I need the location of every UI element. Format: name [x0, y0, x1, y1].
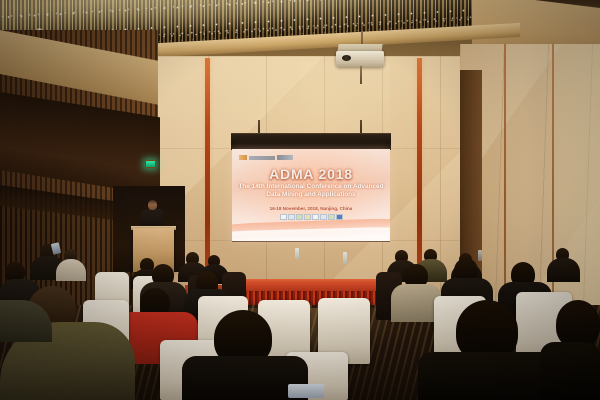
slide-date-location: 16-18 November, 2018, Nanjing, China	[236, 206, 386, 211]
sponsor-wordmark-logo-icon	[249, 156, 275, 160]
left-wall-dark-band	[0, 92, 160, 195]
sponsor-badge	[288, 214, 295, 220]
water-bottle	[343, 252, 347, 264]
projector-lens	[342, 55, 351, 61]
slide-logo-row	[239, 155, 293, 160]
attendee-shoulders	[418, 352, 560, 400]
slide-title: ADMA 2018	[232, 166, 390, 182]
exit-sign-icon	[145, 160, 156, 168]
adma-logo-icon	[277, 155, 293, 160]
wall-trim-left	[205, 58, 210, 288]
sponsor-badge	[312, 214, 319, 220]
conference-hall-photo: ADMA 2018 The 14th International Confere…	[0, 0, 600, 400]
wall-trim-right	[417, 58, 422, 288]
projection-screen: ADMA 2018 The 14th International Confere…	[232, 149, 390, 241]
sponsor-badge	[280, 214, 287, 220]
slide-subtitle: The 14th International Conference on Adv…	[236, 183, 386, 199]
speaker-head	[148, 200, 157, 210]
water-bottle	[478, 250, 482, 261]
sponsor-badge	[296, 214, 303, 220]
left-wall-soffit	[0, 30, 158, 105]
water-bottle	[295, 248, 299, 259]
host-university-logo-icon	[239, 155, 247, 160]
attendee-head	[556, 300, 600, 348]
attendee-laptop-screen	[288, 384, 324, 398]
attendee-shoulders	[547, 258, 580, 282]
attendee-shoulders	[540, 342, 600, 400]
screen-valance-box	[231, 133, 391, 150]
projector-lower-stem	[360, 66, 362, 84]
sponsor-badge	[328, 214, 335, 220]
sponsor-badge	[304, 214, 311, 220]
attendee-shoulders	[56, 259, 86, 281]
sponsor-badge	[320, 214, 327, 220]
